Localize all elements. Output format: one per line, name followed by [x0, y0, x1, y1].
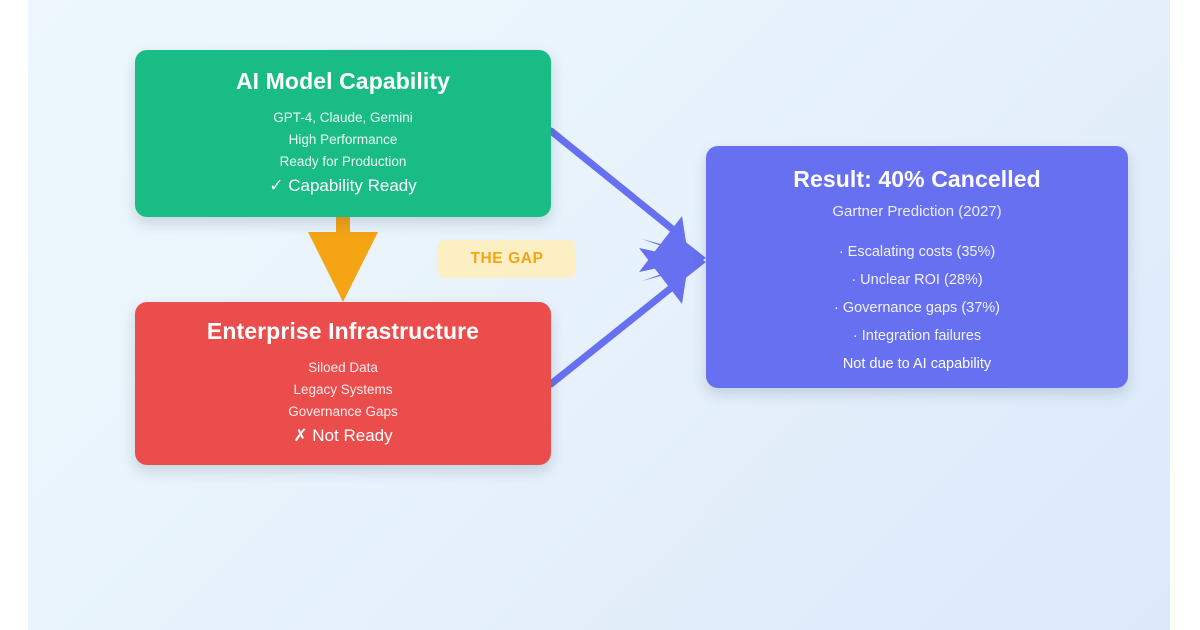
node-line-infrastructure-2: Legacy Systems	[293, 379, 392, 401]
node-line-infrastructure-3: Governance Gaps	[288, 401, 398, 423]
node-footnote-result: Not due to AI capability	[843, 350, 991, 378]
node-result-cancelled[interactable]: Result: 40% Cancelled Gartner Prediction…	[706, 146, 1128, 388]
gap-arrow-icon	[308, 214, 378, 302]
node-title-infrastructure: Enterprise Infrastructure	[207, 318, 479, 345]
node-ai-model-capability[interactable]: AI Model Capability GPT-4, Claude, Gemin…	[135, 50, 551, 217]
diagram-stage: AI Model Capability GPT-4, Claude, Gemin…	[0, 0, 1200, 630]
gap-badge-label: THE GAP	[470, 250, 543, 268]
diagram-background-panel: AI Model Capability GPT-4, Claude, Gemin…	[28, 0, 1170, 630]
node-status-infrastructure: ✗ Not Ready	[293, 424, 392, 448]
node-title-result: Result: 40% Cancelled	[793, 166, 1041, 193]
node-title-capability: AI Model Capability	[236, 68, 450, 95]
node-enterprise-infrastructure[interactable]: Enterprise Infrastructure Siloed Data Le…	[135, 302, 551, 465]
gap-badge[interactable]: THE GAP	[438, 240, 576, 278]
node-reason-result-1: · Escalating costs (35%)	[839, 238, 995, 266]
node-reason-result-2: · Unclear ROI (28%)	[851, 266, 982, 294]
node-line-infrastructure-1: Siloed Data	[308, 357, 378, 379]
node-line-capability-2: High Performance	[289, 129, 398, 151]
node-reason-result-4: · Integration failures	[853, 322, 981, 350]
node-line-capability-1: GPT-4, Claude, Gemini	[273, 107, 413, 129]
node-subtitle-result: Gartner Prediction (2027)	[832, 203, 1001, 220]
node-line-capability-3: Ready for Production	[280, 151, 407, 173]
node-status-capability: ✓ Capability Ready	[269, 174, 416, 198]
node-reason-result-3: · Governance gaps (37%)	[834, 294, 1000, 322]
